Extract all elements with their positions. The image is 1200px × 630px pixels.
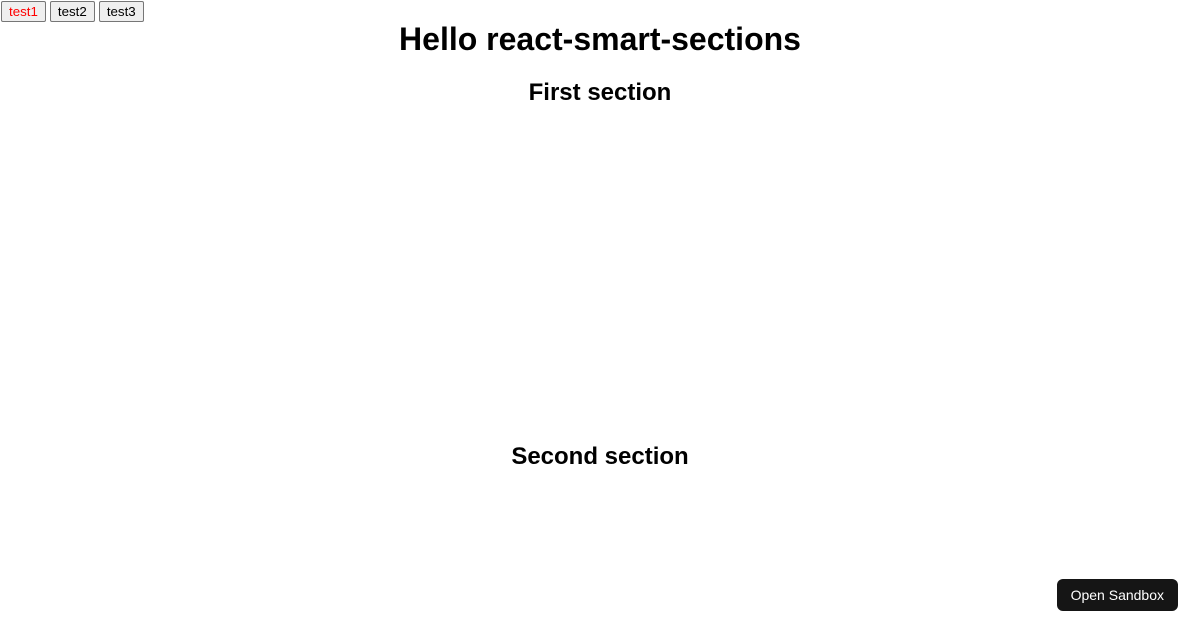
section-first-heading: First section: [0, 79, 1200, 107]
section-first-body: [0, 107, 1200, 443]
nav-button-test3[interactable]: test3: [99, 1, 144, 22]
section-second-body: [0, 471, 1200, 571]
page-title: Hello react-smart-sections: [0, 21, 1200, 58]
section-second: Second section: [0, 443, 1200, 571]
section-nav: test1 test2 test3: [1, 1, 144, 22]
nav-button-test2[interactable]: test2: [50, 1, 95, 22]
section-first: First section: [0, 79, 1200, 443]
page-root: Hello react-smart-sections First section…: [0, 0, 1200, 630]
nav-button-test1[interactable]: test1: [1, 1, 46, 22]
open-sandbox-button[interactable]: Open Sandbox: [1057, 579, 1178, 611]
section-second-heading: Second section: [0, 443, 1200, 471]
